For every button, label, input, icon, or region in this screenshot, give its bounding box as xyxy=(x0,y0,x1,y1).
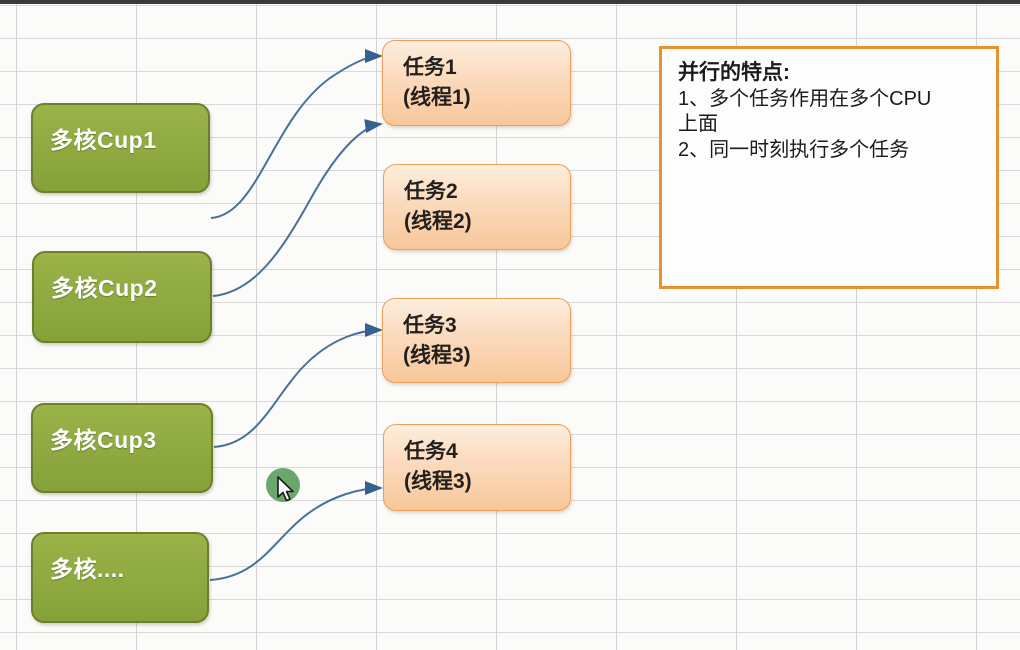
cpu-box-1[interactable]: 多核Cup1 xyxy=(31,103,210,193)
grid-line-vertical xyxy=(256,0,257,650)
notes-line-2: 上面 xyxy=(678,112,982,138)
task-subtitle: (线程3) xyxy=(403,339,471,369)
grid-line-horizontal xyxy=(0,632,1020,633)
task-subtitle: (线程3) xyxy=(404,465,472,495)
task-box-1[interactable]: 任务1(线程1) xyxy=(382,40,571,126)
cpu-box-label: 多核Cup2 xyxy=(51,269,158,303)
notes-line-3: 2、同一时刻执行多个任务 xyxy=(678,138,982,164)
grid-line-vertical xyxy=(16,0,17,650)
task-box-3[interactable]: 任务3(线程3) xyxy=(382,298,571,383)
task-title: 任务4 xyxy=(404,435,458,465)
conn-cpu3-task3 xyxy=(214,330,381,447)
task-title: 任务1 xyxy=(403,51,457,81)
cpu-box-label: 多核.... xyxy=(50,550,125,584)
conn-cpu2-task1 xyxy=(213,124,381,296)
grid-line-horizontal xyxy=(0,401,1020,402)
cpu-box-4[interactable]: 多核.... xyxy=(31,532,209,623)
task-subtitle: (线程1) xyxy=(403,81,471,111)
grid-line-vertical xyxy=(376,0,377,650)
task-title: 任务2 xyxy=(404,175,458,205)
cpu-box-label: 多核Cup3 xyxy=(50,421,157,455)
grid-line-horizontal xyxy=(0,5,1020,6)
grid-line-vertical xyxy=(616,0,617,650)
cpu-box-label: 多核Cup1 xyxy=(50,121,157,155)
cpu-box-3[interactable]: 多核Cup3 xyxy=(31,403,213,493)
diagram-canvas: 多核Cup1多核Cup2多核Cup3多核.... 任务1(线程1)任务2(线程2… xyxy=(0,0,1020,650)
grid-line-horizontal xyxy=(0,38,1020,39)
cpu-box-2[interactable]: 多核Cup2 xyxy=(32,251,212,343)
task-subtitle: (线程2) xyxy=(404,205,472,235)
top-border-band xyxy=(0,0,1020,4)
notes-line-1: 1、多个任务作用在多个CPU xyxy=(678,87,982,113)
notes-panel[interactable]: 并行的特点: 1、多个任务作用在多个CPU 上面 2、同一时刻执行多个任务 xyxy=(659,46,999,289)
task-box-4[interactable]: 任务4(线程3) xyxy=(383,424,571,511)
notes-title: 并行的特点: xyxy=(678,60,982,86)
conn-cpu1-task1 xyxy=(211,56,381,218)
task-title: 任务3 xyxy=(403,309,457,339)
task-box-2[interactable]: 任务2(线程2) xyxy=(383,164,571,250)
mouse-pointer-icon xyxy=(277,476,297,504)
